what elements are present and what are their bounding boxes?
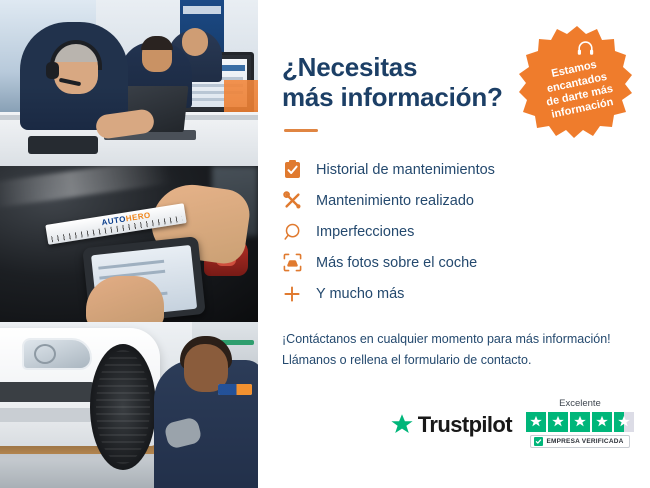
page-title-line1: ¿Necesitas	[282, 52, 417, 82]
title-underline-rule	[284, 129, 318, 132]
star-5-half	[614, 412, 634, 432]
verified-label: EMPRESA VERIFICADA	[546, 438, 623, 445]
star-1	[526, 412, 546, 432]
poster-stripe	[183, 6, 221, 14]
car-wheel	[90, 344, 156, 470]
trustpilot-logo[interactable]: Trustpilot	[390, 412, 512, 448]
tire-tread	[96, 350, 150, 464]
headlight-ring	[34, 344, 56, 364]
trustpilot-rating: Excelente EMPRESA VERIFICADA	[526, 398, 634, 448]
desk-tablet	[28, 136, 98, 154]
car-headlight	[22, 338, 92, 370]
feature-label: Imperfecciones	[316, 224, 414, 240]
feature-list: Historial de mantenimientos Mantenimient…	[282, 154, 626, 309]
star-rating	[526, 412, 634, 432]
star-3	[570, 412, 590, 432]
feature-item-mas: Y mucho más	[282, 278, 626, 309]
agent-headset-earcup	[46, 62, 59, 79]
car-grille	[0, 382, 94, 402]
star-4	[592, 412, 612, 432]
support-badge: Estamos encantados de darte más informac…	[518, 24, 636, 142]
trustpilot-wordmark: Trustpilot	[418, 412, 512, 438]
star-2	[548, 412, 568, 432]
tablet-row	[98, 260, 164, 270]
contact-line-1: ¡Contáctanos en cualquier momento para m…	[282, 329, 626, 350]
feature-label: Historial de mantenimientos	[316, 162, 495, 178]
wrench-screwdriver-icon	[282, 191, 302, 211]
car-viewfinder-icon	[282, 253, 302, 273]
promo-card: AUTOHERO	[0, 0, 650, 488]
feature-label: Más fotos sobre el coche	[316, 255, 477, 271]
magnifier-icon	[282, 222, 302, 242]
inspector-hand-lower	[86, 276, 164, 322]
check-icon	[534, 437, 543, 446]
photo-collage: AUTOHERO	[0, 0, 258, 488]
rating-label: Excelente	[559, 398, 601, 409]
feature-item-fotos: Más fotos sobre el coche	[282, 247, 626, 278]
call-center-agents-photo	[0, 0, 258, 166]
plus-icon	[282, 284, 302, 304]
car-inspection-photo: AUTOHERO	[0, 166, 258, 322]
trustpilot-widget[interactable]: Trustpilot Excelente EMPRESA VERIFICADA	[390, 398, 634, 448]
feature-label: Mantenimiento realizado	[316, 193, 474, 209]
badge-text: Estamos encantados de darte más informac…	[507, 13, 647, 153]
background-colleague-head	[182, 28, 208, 56]
feature-label: Y mucho más	[316, 286, 404, 302]
verified-company-badge: EMPRESA VERIFICADA	[530, 435, 629, 448]
clipboard-check-icon	[282, 160, 302, 180]
car-bumper	[0, 408, 104, 422]
feature-item-imperfecciones: Imperfecciones	[282, 216, 626, 247]
feature-item-mantenimiento: Mantenimiento realizado	[282, 185, 626, 216]
trustpilot-star-icon	[390, 413, 414, 437]
uniform-logo	[218, 384, 252, 395]
contact-line-2: Llámanos o rellena el formulario de cont…	[282, 350, 626, 371]
feature-item-historial: Historial de mantenimientos	[282, 154, 626, 185]
content-panel: ¿Necesitas más información? Estamos enca…	[258, 0, 650, 488]
contact-paragraph: ¡Contáctanos en cualquier momento para m…	[282, 329, 626, 370]
mechanic-wheel-photo	[0, 322, 258, 488]
